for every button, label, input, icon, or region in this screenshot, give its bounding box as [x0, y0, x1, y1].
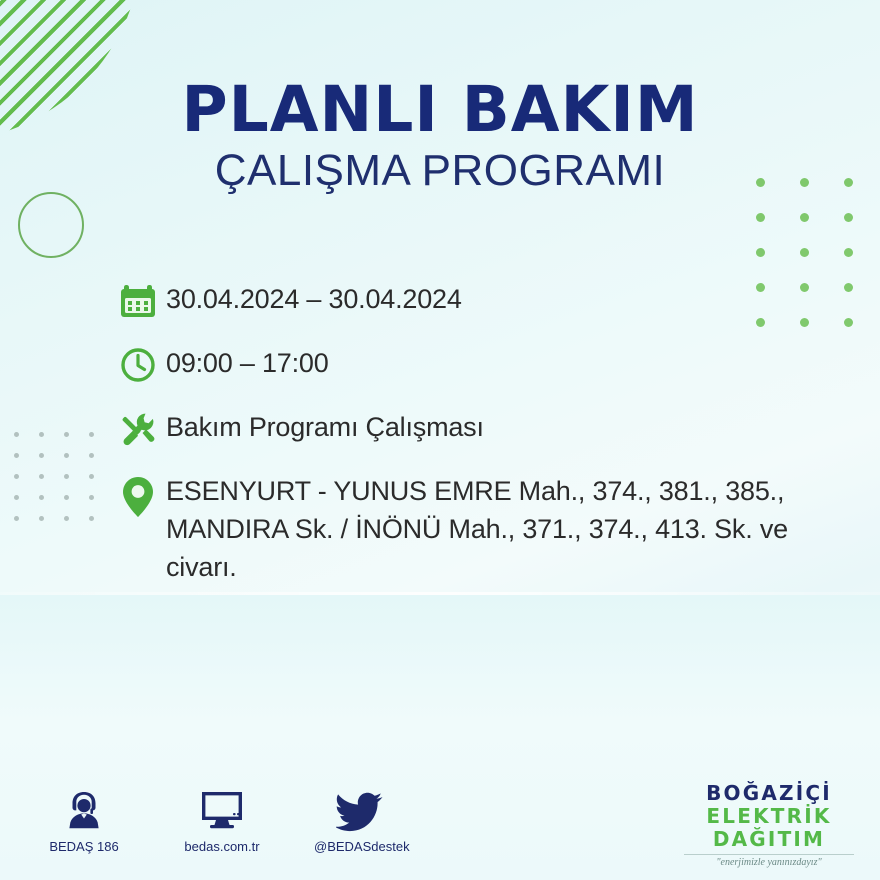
date-range-value: 30.04.2024 – 30.04.2024 [166, 278, 462, 318]
clock-icon [118, 342, 166, 388]
page-title: PLANLI BAKIM [0, 78, 880, 142]
dot-grid-left-decoration [14, 432, 114, 537]
headset-support-icon [38, 782, 130, 832]
tools-icon [118, 406, 166, 452]
contact-website-label: bedas.com.tr [176, 839, 268, 854]
contact-twitter[interactable]: @BEDASdestek [314, 782, 406, 854]
page-subtitle: ÇALIŞMA PROGRAMI [0, 148, 880, 194]
time-range-value: 09:00 – 17:00 [166, 342, 329, 382]
detail-row-location: ESENYURT - YUNUS EMRE Mah., 374., 381., … [118, 470, 858, 586]
detail-row-work-type: Bakım Programı Çalışması [118, 406, 858, 452]
twitter-bird-icon [314, 782, 406, 832]
poster-header: PLANLI BAKIM ÇALIŞMA PROGRAMI [0, 78, 880, 194]
calendar-icon [118, 278, 166, 324]
maintenance-details: 30.04.2024 – 30.04.2024 09:00 – 17:00 [118, 278, 858, 586]
contact-twitter-label: @BEDASdestek [314, 839, 406, 854]
work-type-value: Bakım Programı Çalışması [166, 406, 484, 446]
brand-logo: BOĞAZİÇİ ELEKTRİK DAĞITIM "enerjimizle y… [684, 782, 854, 868]
brand-line-bogazici: BOĞAZİÇİ [684, 782, 854, 805]
contact-phone-label: BEDAŞ 186 [38, 839, 130, 854]
contact-channels: BEDAŞ 186 bedas.com.tr [38, 782, 406, 854]
brand-tagline: "enerjimizle yanınızdayız" [684, 854, 854, 868]
monitor-icon [176, 782, 268, 832]
detail-row-time: 09:00 – 17:00 [118, 342, 858, 388]
poster-canvas: PLANLI BAKIM ÇALIŞMA PROGRAMI [0, 0, 880, 880]
circle-outline-decoration [18, 192, 84, 258]
brand-line-dagitim: DAĞITIM [684, 828, 854, 851]
location-value: ESENYURT - YUNUS EMRE Mah., 374., 381., … [166, 470, 826, 586]
brand-line-elektrik: ELEKTRİK [684, 805, 854, 828]
map-pin-icon [118, 470, 166, 520]
detail-row-date: 30.04.2024 – 30.04.2024 [118, 278, 858, 324]
contact-phone[interactable]: BEDAŞ 186 [38, 782, 130, 854]
contact-website[interactable]: bedas.com.tr [176, 782, 268, 854]
poster-footer: BEDAŞ 186 bedas.com.tr [0, 782, 880, 880]
